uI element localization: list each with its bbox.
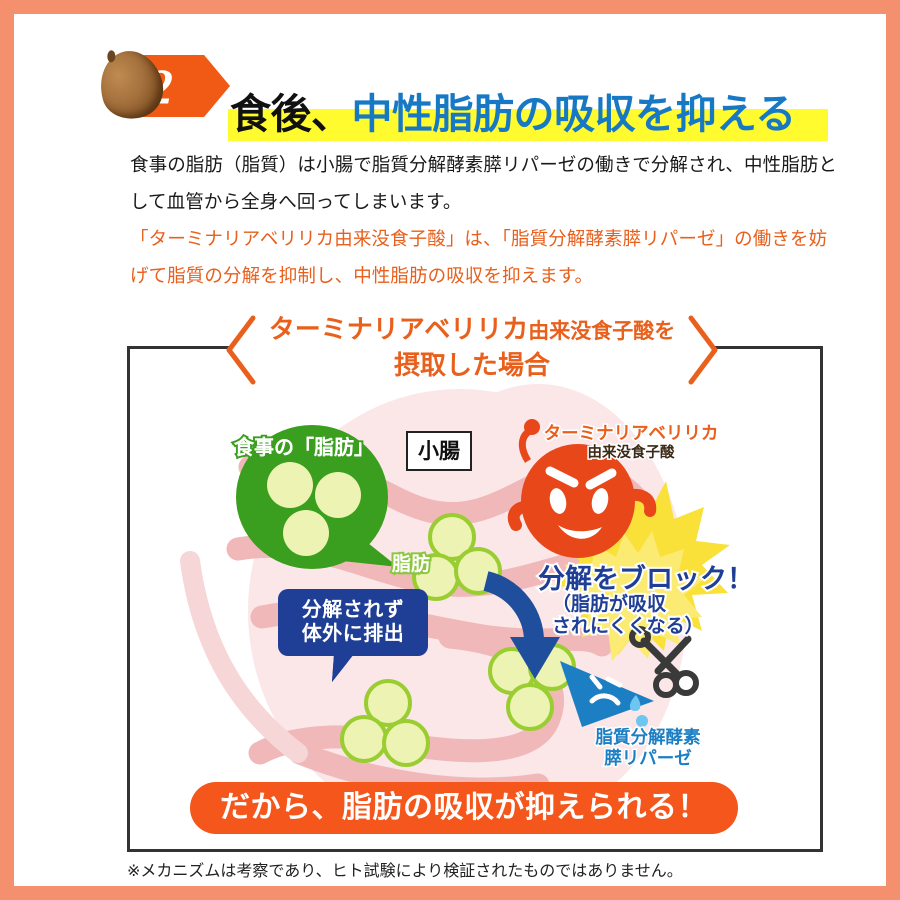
label-lipase: 脂質分解酵素 膵リパーゼ — [558, 727, 738, 769]
label-terminalia-sub: 由来没食子酸 — [526, 443, 736, 463]
step-badge: 2 — [100, 51, 235, 119]
label-dietary-fat: 食事の「脂肪」 — [234, 431, 374, 460]
diagram-heading-line1-small: 由来没食子酸を — [528, 320, 675, 343]
label-fat: 脂肪 — [392, 549, 430, 576]
label-terminalia-main: ターミナリアベリリカ — [526, 423, 736, 443]
infographic-page: 2 食後、中性脂肪の吸収を抑える 食事の脂肪（脂質）は小腸で脂質分解酵素膵リパー… — [0, 0, 900, 900]
page-title-blue: 中性脂肪の吸収を抑える — [352, 91, 796, 137]
label-excreted: 分解されず 体外に排出 — [278, 589, 428, 656]
footnote: ※メカニズムは考察であり、ヒト試験により検証されたものではありません。 — [127, 857, 683, 881]
conclusion-banner: だから、脂肪の吸収が抑えられる！ — [190, 782, 738, 834]
label-block-decomposition: 分解をブロック！ （脂肪が吸収 されにくくなる） — [538, 565, 754, 638]
body-paragraph-1: 食事の脂肪（脂質）は小腸で脂質分解酵素膵リパーゼの働きで分解され、中性脂肪として… — [130, 146, 842, 220]
page-title-black: 食後、 — [230, 91, 352, 137]
section-header: 2 食後、中性脂肪の吸収を抑える — [100, 47, 840, 127]
page-title: 食後、中性脂肪の吸収を抑える — [230, 81, 796, 147]
label-terminalia: ターミナリアベリリカ 由来没食子酸 — [526, 423, 736, 463]
body-paragraph-2: 「ターミナリアベリリカ由来没食子酸」は、「脂質分解酵素膵リパーゼ」の働きを妨げて… — [130, 220, 842, 294]
diagram-heading-line1: ターミナリアベリリカ由来没食子酸を — [269, 312, 675, 349]
label-excreted-line1: 分解されず — [278, 598, 428, 622]
mechanism-diagram: 小腸 食事の「脂肪」 脂肪 ターミナリアベリリカ 由来没食子酸 分解をブロック！… — [127, 346, 823, 852]
label-block-sub1: （脂肪が吸収 — [538, 594, 754, 616]
label-lipase-line1: 脂質分解酵素 — [558, 727, 738, 748]
label-block-main: 分解をブロック！ — [538, 564, 754, 594]
label-small-intestine: 小腸 — [406, 431, 472, 471]
label-block-sub2: されにくくなる） — [538, 616, 754, 638]
label-excreted-line2: 体外に排出 — [278, 622, 428, 646]
label-lipase-line2: 膵リパーゼ — [558, 748, 738, 769]
diagram-heading-line1-main: ターミナリアベリリカ — [269, 314, 528, 344]
diagram-canvas: 小腸 食事の「脂肪」 脂肪 ターミナリアベリリカ 由来没食子酸 分解をブロック！… — [130, 349, 814, 843]
